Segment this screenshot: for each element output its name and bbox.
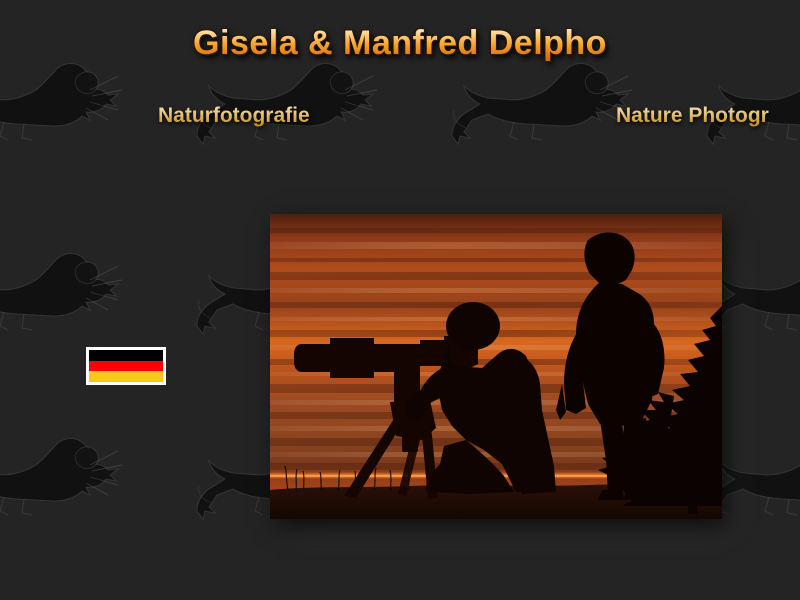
hero-photo[interactable] [270, 214, 722, 519]
language-flag-de[interactable] [86, 347, 166, 385]
subtitle-german: Naturfotografie [158, 104, 310, 128]
subtitle-english: Nature Photogr [616, 104, 769, 128]
flag-band-gold [89, 371, 163, 382]
mouse-silhouette-icon [450, 50, 640, 160]
mouse-silhouette-icon [0, 425, 130, 535]
page-root: Gisela & Manfred Delpho Naturfotografie … [0, 0, 800, 600]
flag-band-red [89, 361, 163, 372]
mouse-silhouette-icon [0, 50, 130, 160]
flag-band-black [89, 350, 163, 361]
page-title: Gisela & Manfred Delpho [0, 24, 800, 63]
mouse-silhouette-icon [0, 240, 130, 350]
